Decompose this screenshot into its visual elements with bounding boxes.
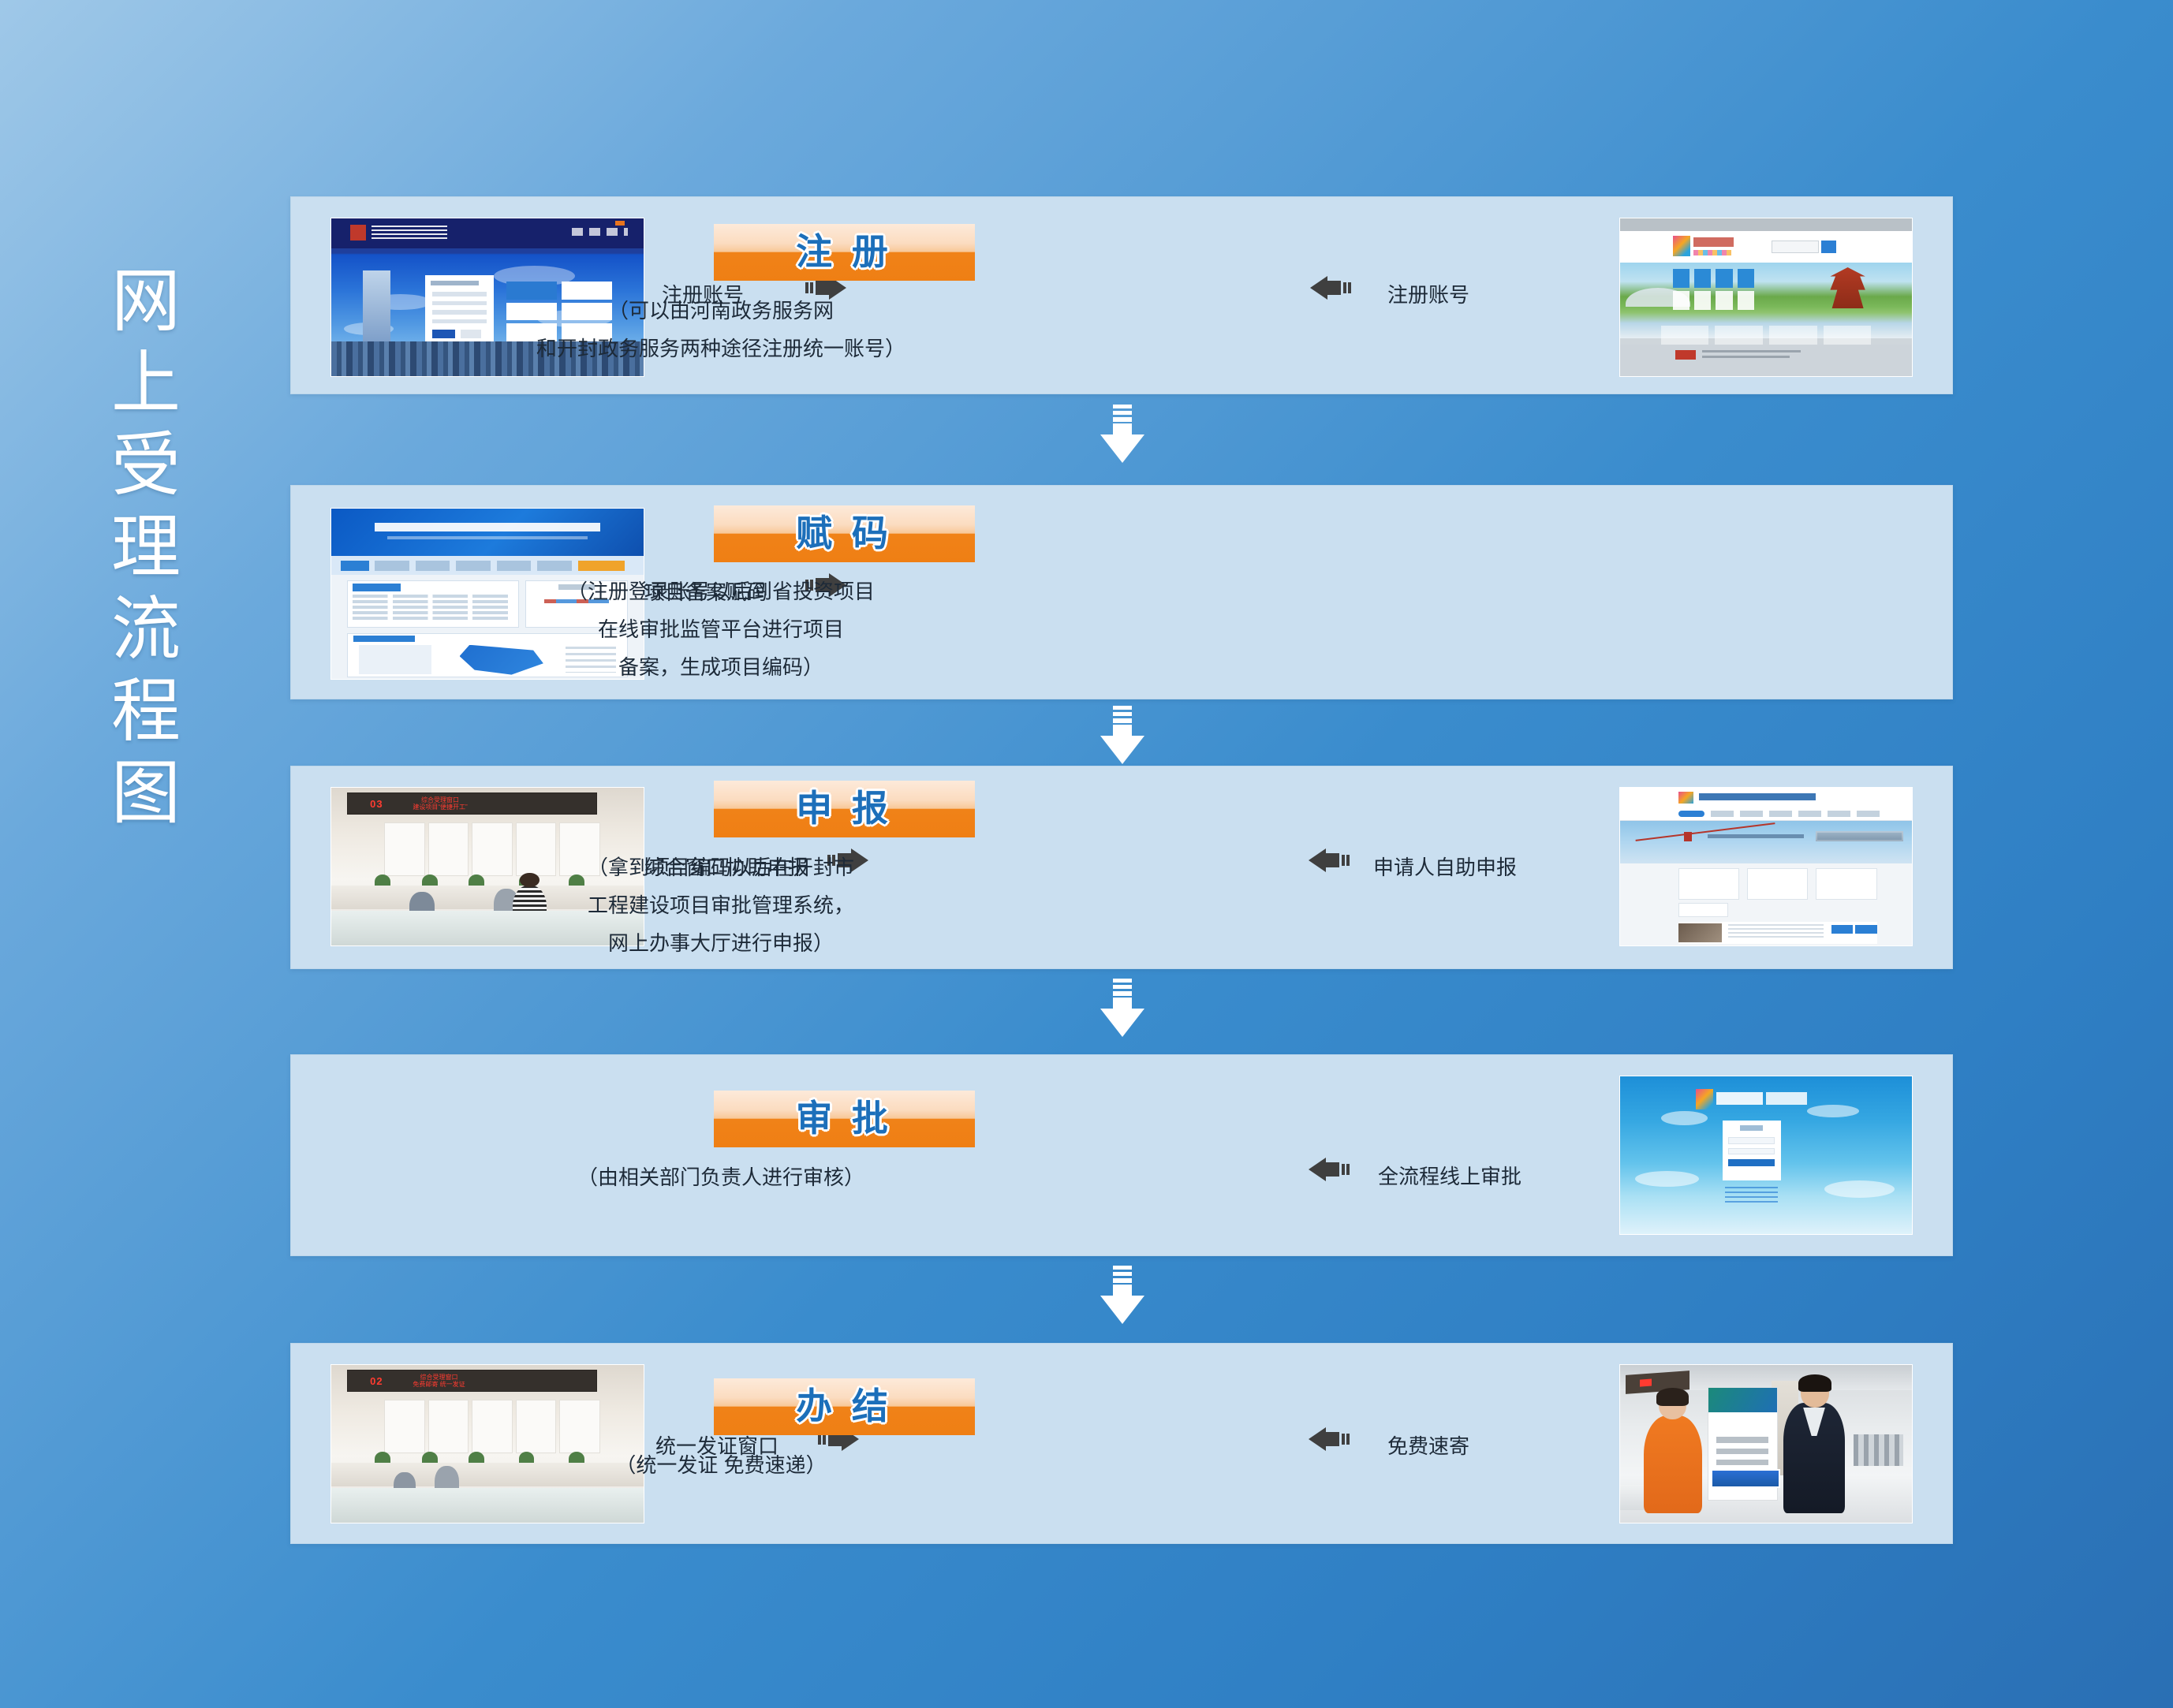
title-char: 上 [111, 342, 181, 424]
step-badge-declare: 申 报 [714, 781, 975, 837]
title-char: 理 [111, 506, 181, 588]
title-char: 受 [111, 424, 181, 506]
flow-step-declare: 03 综合受理窗口建设项目“便捷开工” 综合窗口协助申报 申 报 （拿到项目编码… [290, 766, 1953, 969]
step-badge-assign-code: 赋 码 [714, 505, 975, 562]
badge-text: 办 结 [796, 1388, 893, 1424]
desc-line: （统一发证 免费速递） [500, 1446, 942, 1484]
step-description-complete: （统一发证 免费速递） [500, 1446, 942, 1484]
desc-line: 工程建设项目审批管理系统， [500, 886, 942, 924]
led-number: 02 [370, 1375, 383, 1387]
desc-line: （可以由河南政务服务网 [500, 292, 942, 330]
led-number: 03 [370, 798, 383, 810]
badge-text: 申 报 [796, 790, 893, 826]
flow-step-register: 注册账号 注 册 （可以由河南政务服务网 和开封政务服务两种途径注册统一账号） … [290, 196, 1953, 394]
step-description-assign-code: （注册登录账号以后到省投资项目 在线审批监管平台进行项目 备案，生成项目编码） [500, 572, 942, 686]
flow-connector-down-icon [1097, 706, 1148, 767]
desc-line: 和开封政务服务两种途径注册统一账号） [500, 330, 942, 367]
step-right-label-declare: 申请人自助申报 [1373, 852, 1517, 881]
flow-step-complete: 02 综合受理窗口免费邮寄 统一发证 统一发证窗口 办 结 （统一发证 免费速递… [290, 1343, 1953, 1544]
page-title: 网 上 受 理 流 程 图 [79, 260, 213, 834]
flow-step-assign-code: 项目备案赋码 赋 码 （注册登录账号以后到省投资项目 在线审批监管平台进行项目 … [290, 485, 1953, 699]
arrow-left-icon [1307, 847, 1350, 874]
title-char: 流 [111, 588, 181, 670]
step-badge-complete: 办 结 [714, 1378, 975, 1435]
thumbnail-unified-certificate-window: 02 综合受理窗口免费邮寄 统一发证 [330, 1364, 644, 1523]
led-message: 综合受理窗口建设项目“便捷开工” [413, 796, 467, 811]
step-right-label-complete: 免费速寄 [1387, 1430, 1469, 1460]
badge-text: 注 册 [796, 233, 893, 270]
title-char: 程 [111, 670, 181, 752]
badge-text: 审 批 [796, 1100, 893, 1136]
desc-line: 网上办事大厅进行申报） [500, 924, 942, 962]
step-right-label-approval: 全流程线上审批 [1378, 1161, 1521, 1190]
step-description-register: （可以由河南政务服务网 和开封政务服务两种途径注册统一账号） [500, 292, 942, 367]
arrow-left-icon [1307, 1426, 1350, 1453]
flow-step-approval: 审 批 （由相关部门负责人进行审核） 全流程线上审批 [290, 1054, 1953, 1256]
flow-connector-down-icon [1097, 405, 1148, 466]
thumbnail-kaifeng-government-service-portal [1619, 218, 1913, 377]
thumbnail-construction-approval-portal [1619, 787, 1913, 946]
thumbnail-unified-acceptance-login [1619, 1076, 1913, 1235]
badge-text: 赋 码 [796, 515, 893, 551]
desc-line: （拿到项目编码以后在开封市 [500, 848, 942, 886]
step-description-approval: （由相关部门负责人进行审核） [500, 1158, 942, 1196]
step-badge-approval: 审 批 [714, 1091, 975, 1147]
arrow-left-icon [1309, 274, 1351, 301]
led-message: 综合受理窗口免费邮寄 统一发证 [413, 1374, 465, 1388]
step-right-label-register: 注册账号 [1387, 279, 1469, 308]
arrow-left-icon [1307, 1156, 1350, 1183]
desc-line: 在线审批监管平台进行项目 [500, 610, 942, 648]
flow-connector-down-icon [1097, 1266, 1148, 1327]
desc-line: （由相关部门负责人进行审核） [500, 1158, 942, 1196]
step-description-declare: （拿到项目编码以后在开封市 工程建设项目审批管理系统， 网上办事大厅进行申报） [500, 848, 942, 962]
desc-line: 备案，生成项目编码） [500, 648, 942, 686]
step-badge-register: 注 册 [714, 224, 975, 281]
desc-line: （注册登录账号以后到省投资项目 [500, 572, 942, 610]
flow-connector-down-icon [1097, 979, 1148, 1040]
title-char: 网 [111, 260, 181, 342]
title-char: 图 [111, 752, 181, 834]
flowchart: 注册账号 注 册 （可以由河南政务服务网 和开封政务服务两种途径注册统一账号） … [290, 0, 1955, 1708]
thumbnail-certificate-handover-photo [1619, 1364, 1913, 1523]
